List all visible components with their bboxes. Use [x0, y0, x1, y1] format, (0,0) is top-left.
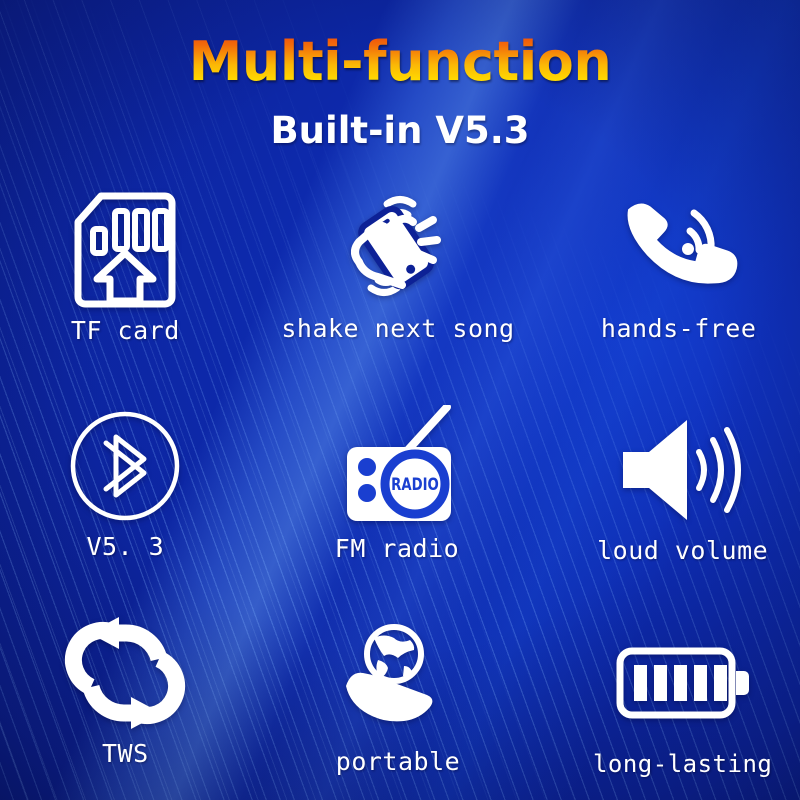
product-feature-poster: Multi-function Built-in V5.3 TF card: [0, 0, 800, 800]
telephone-handset-icon: [618, 188, 740, 308]
feature-item-long-lasting: long-lasting: [549, 597, 800, 800]
hand-shake-phone-icon: [333, 188, 463, 308]
feature-item-tws: TWS: [0, 587, 259, 794]
sd-card-icon: [73, 190, 177, 310]
feature-label: TF card: [71, 316, 180, 345]
feature-item-fm-radio: RADIO FM radio: [264, 383, 531, 590]
radio-dial-text: RADIO: [391, 475, 439, 495]
globe-in-hand-icon: [334, 621, 462, 741]
speaker-volume-icon: [615, 410, 751, 530]
page-title: Multi-function: [0, 0, 800, 93]
feature-label: hands-free: [601, 314, 757, 343]
page-subtitle: Built-in V5.3: [0, 93, 800, 152]
feature-label: shake next song: [281, 314, 514, 343]
feature-label: TWS: [102, 739, 149, 768]
poster-headings: Multi-function Built-in V5.3: [0, 0, 800, 152]
feature-item-tf-card: TF card: [0, 164, 259, 371]
feature-label: portable: [336, 747, 460, 776]
sync-loop-icon: [63, 613, 187, 733]
feature-label: V5. 3: [86, 532, 164, 561]
battery-full-icon: [616, 624, 750, 744]
feature-item-loud-volume: loud volume: [549, 385, 800, 592]
feature-label: long-lasting: [593, 750, 772, 778]
feature-item-shake-next-song: shake next song: [265, 162, 532, 369]
feature-grid: TF card: [0, 168, 800, 788]
feature-item-bluetooth: V5. 3: [0, 381, 259, 588]
feature-item-portable: portable: [265, 595, 532, 800]
bluetooth-icon: [66, 406, 184, 526]
feature-label: loud volume: [597, 536, 768, 565]
feature-label: FM radio: [335, 534, 459, 563]
radio-icon: RADIO: [329, 408, 465, 528]
feature-item-hands-free: hands-free: [545, 162, 800, 369]
